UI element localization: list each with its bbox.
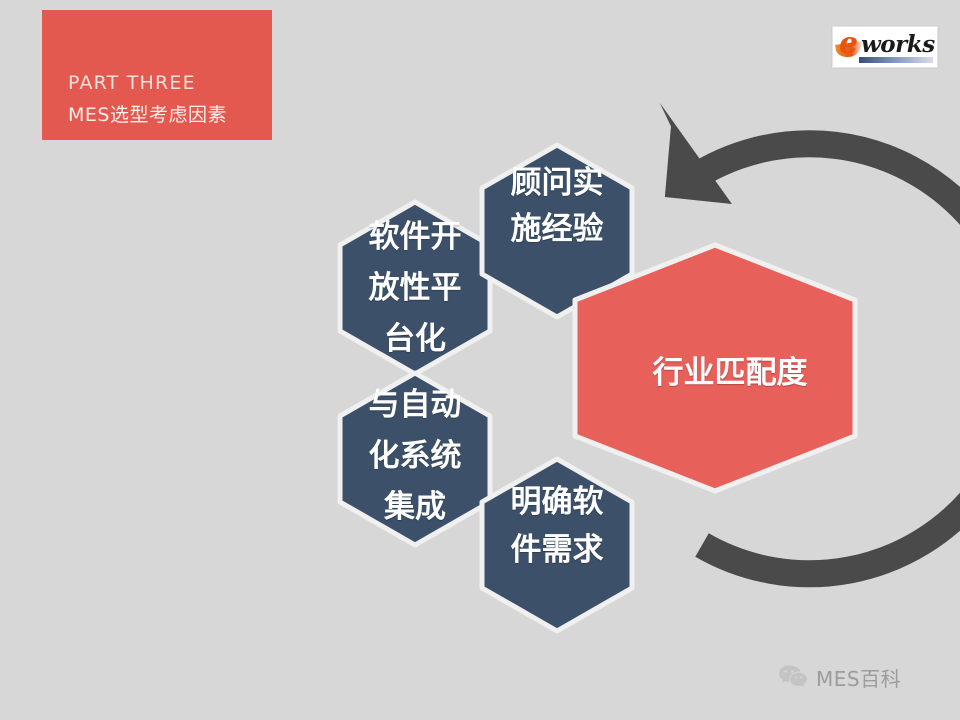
section-title-block: PART THREE MES选型考虑因素 [42, 10, 272, 140]
wechat-icon [778, 664, 808, 690]
slide-canvas: PART THREE MES选型考虑因素 e works 顾问实 施经验 软件开… [0, 0, 960, 720]
hexagon-clarify-requirements[interactable] [482, 459, 632, 631]
footer-account-name: MES百科 [816, 663, 901, 692]
hexagon-industry-match[interactable] [575, 245, 855, 491]
logo-letter-e: e [839, 29, 858, 59]
section-title-part: PART THREE [68, 68, 264, 98]
logo-gradient-bar [859, 57, 933, 63]
hexagon-software-openness-platform[interactable] [340, 202, 490, 374]
eworks-logo: e works [832, 26, 938, 68]
section-title-subject: MES选型考虑因素 [68, 98, 264, 132]
hexagon-automation-integration[interactable] [340, 373, 490, 545]
footer-watermark: MES百科 [778, 662, 901, 692]
logo-word-works: works [861, 32, 935, 57]
